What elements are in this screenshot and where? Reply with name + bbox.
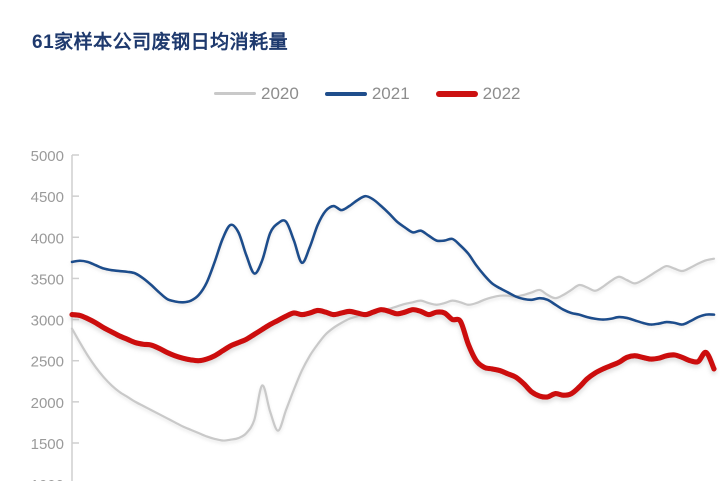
y-tick-label: 2000: [31, 395, 64, 412]
y-tick-label: 1500: [31, 436, 64, 453]
y-tick-label: 2500: [31, 354, 64, 371]
series-line-2022: [72, 310, 714, 397]
legend-swatch-2021: [325, 92, 367, 96]
legend-item-2021[interactable]: 2021: [325, 85, 410, 102]
y-tick-label: 3500: [31, 271, 64, 288]
chart-legend: 2020 2021 2022: [214, 85, 520, 102]
legend-swatch-2020: [214, 92, 256, 95]
y-tick-label: 4500: [31, 189, 64, 206]
legend-item-2020[interactable]: 2020: [214, 85, 299, 102]
y-tick-label: 4000: [31, 230, 64, 247]
data-series-group: [72, 196, 714, 440]
legend-item-2022[interactable]: 2022: [436, 85, 521, 102]
y-tick-label: 1000: [31, 477, 64, 481]
legend-label-2021: 2021: [372, 85, 410, 102]
legend-label-2022: 2022: [483, 85, 521, 102]
y-axis-tick-marks: [72, 155, 79, 481]
y-axis-tick-labels: 500045004000350030002500200015001000: [31, 148, 64, 481]
y-tick-label: 5000: [31, 148, 64, 165]
line-chart-svg: 500045004000350030002500200015001000: [0, 130, 720, 481]
legend-label-2020: 2020: [261, 85, 299, 102]
series-line-2020: [72, 259, 714, 441]
legend-swatch-2022: [436, 91, 478, 97]
series-line-2021: [72, 196, 714, 324]
plot-area: 500045004000350030002500200015001000: [0, 130, 720, 481]
chart-page: 61家样本公司废钢日均消耗量 2020 2021 2022: [0, 0, 720, 481]
y-tick-label: 3000: [31, 313, 64, 330]
page-title: 61家样本公司废钢日均消耗量: [32, 27, 288, 54]
